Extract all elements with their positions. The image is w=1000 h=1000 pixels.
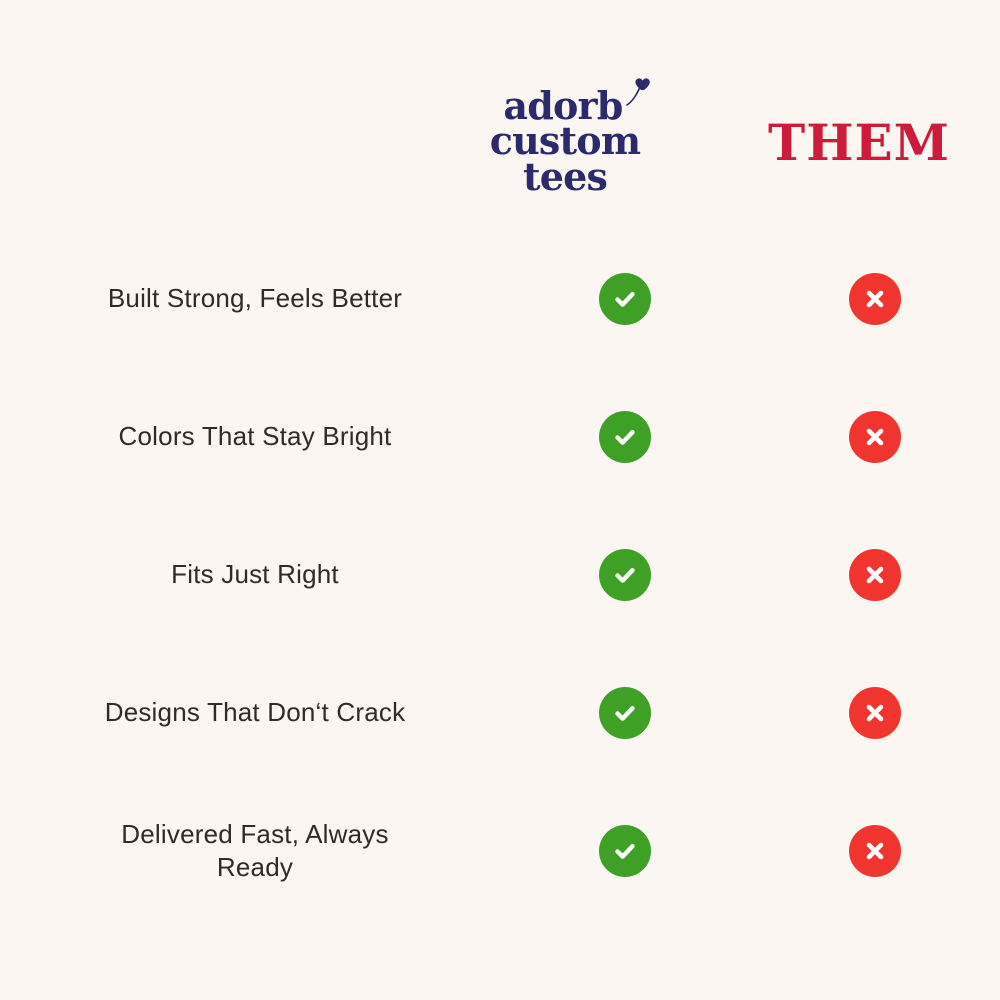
us-mark-cell <box>500 368 750 506</box>
check-circle-icon <box>599 549 651 601</box>
cross-circle-icon <box>849 411 901 463</box>
us-mark-cell <box>500 506 750 644</box>
comparison-header: adorb custom tees THEM <box>0 0 1000 230</box>
feature-label: Delivered Fast, Always Ready <box>85 818 425 885</box>
feature-label-cell: Built Strong, Feels Better <box>0 230 500 368</box>
check-circle-icon <box>599 273 651 325</box>
table-row: Built Strong, Feels Better <box>0 230 1000 368</box>
cross-circle-icon <box>849 687 901 739</box>
brand-logo-line-3: tees <box>523 159 607 194</box>
table-row: Designs That Don‘t Crack <box>0 644 1000 782</box>
feature-label-cell: Delivered Fast, Always Ready <box>0 782 500 920</box>
comparison-rows: Built Strong, Feels Better C <box>0 230 1000 930</box>
us-mark-cell <box>500 782 750 920</box>
heart-balloon-icon <box>623 74 657 108</box>
us-mark-cell <box>500 230 750 368</box>
feature-label: Designs That Don‘t Crack <box>105 696 406 729</box>
feature-label-cell: Colors That Stay Bright <box>0 368 500 506</box>
us-mark-cell <box>500 644 750 782</box>
check-circle-icon <box>599 687 651 739</box>
competitor-column-header: THEM <box>756 118 962 168</box>
table-row: Fits Just Right <box>0 506 1000 644</box>
feature-label: Colors That Stay Bright <box>119 420 392 453</box>
feature-label: Fits Just Right <box>171 558 339 591</box>
brand-logo-text-adorb: adorb <box>503 83 622 128</box>
them-mark-cell <box>750 644 1000 782</box>
brand-logo-line-1: adorb <box>503 88 626 123</box>
table-row: Delivered Fast, Always Ready <box>0 782 1000 920</box>
feature-label-cell: Fits Just Right <box>0 506 500 644</box>
feature-label-cell: Designs That Don‘t Crack <box>0 644 500 782</box>
them-mark-cell <box>750 506 1000 644</box>
check-circle-icon <box>599 825 651 877</box>
comparison-board: adorb custom tees THEM Built Strong, Fee… <box>0 0 1000 1000</box>
feature-label: Built Strong, Feels Better <box>108 282 402 315</box>
brand-logo: adorb custom tees <box>440 88 690 203</box>
check-circle-icon <box>599 411 651 463</box>
them-mark-cell <box>750 368 1000 506</box>
them-mark-cell <box>750 782 1000 920</box>
table-row: Colors That Stay Bright <box>0 368 1000 506</box>
them-mark-cell <box>750 230 1000 368</box>
cross-circle-icon <box>849 549 901 601</box>
cross-circle-icon <box>849 825 901 877</box>
cross-circle-icon <box>849 273 901 325</box>
